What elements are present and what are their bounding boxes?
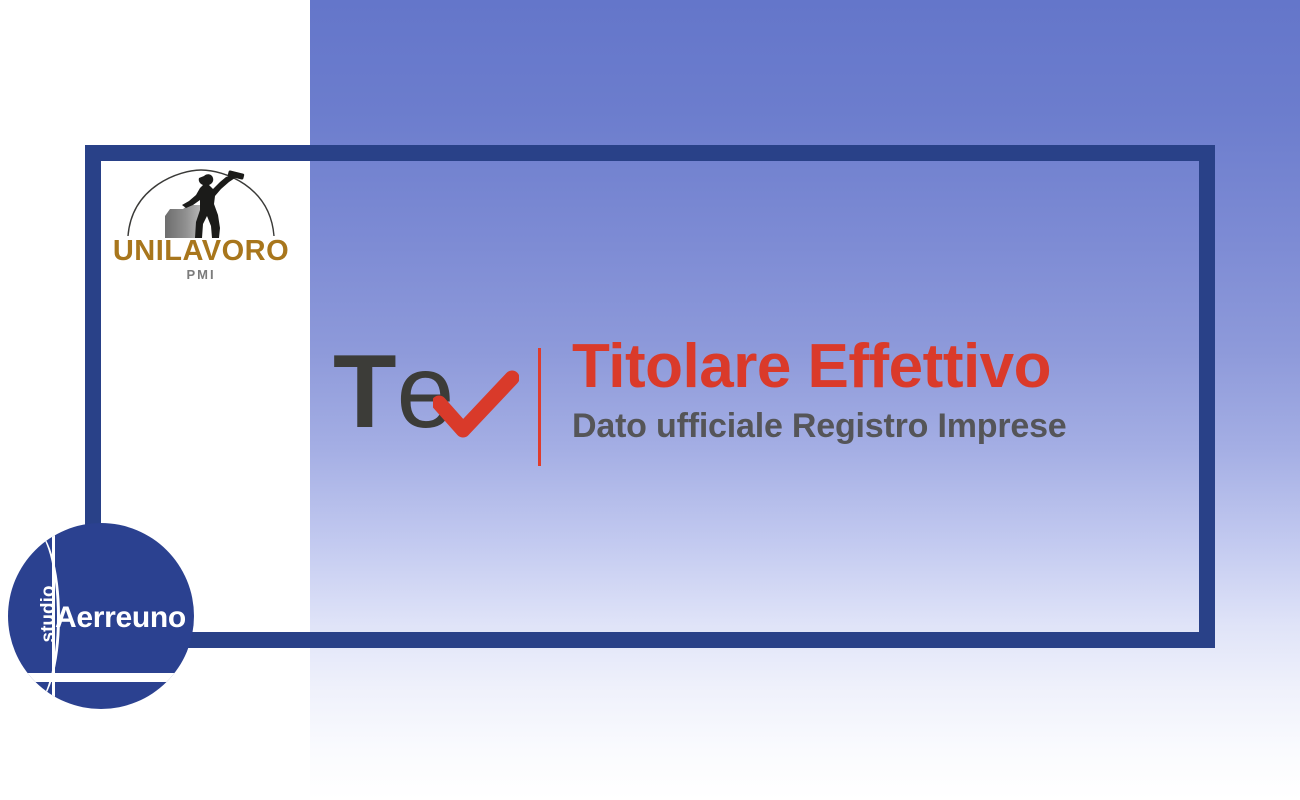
unilavoro-name: UNILAVORO bbox=[108, 236, 294, 266]
blacksmith-anvil-icon bbox=[108, 168, 294, 238]
badge-bottom-gap bbox=[8, 673, 194, 682]
page-title: Titolare Effettivo bbox=[572, 333, 1212, 401]
page-subtitle: Dato ufficiale Registro Imprese bbox=[572, 405, 1212, 447]
unilavoro-logo: UNILAVORO PMI bbox=[108, 168, 294, 288]
red-check-icon bbox=[433, 370, 519, 440]
slide-canvas: UNILAVORO PMI studio Aerreuno Te Titolar… bbox=[0, 0, 1300, 800]
te-letter-t: T bbox=[333, 334, 397, 450]
unilavoro-tagline: PMI bbox=[108, 267, 294, 283]
titolare-effettivo-logo: Te bbox=[333, 340, 518, 460]
headline-block: Titolare Effettivo Dato ufficiale Regist… bbox=[572, 333, 1212, 447]
aerreuno-logo: studio Aerreuno bbox=[8, 523, 200, 723]
red-divider bbox=[538, 348, 541, 466]
aerreuno-name: Aerreuno bbox=[55, 601, 186, 635]
